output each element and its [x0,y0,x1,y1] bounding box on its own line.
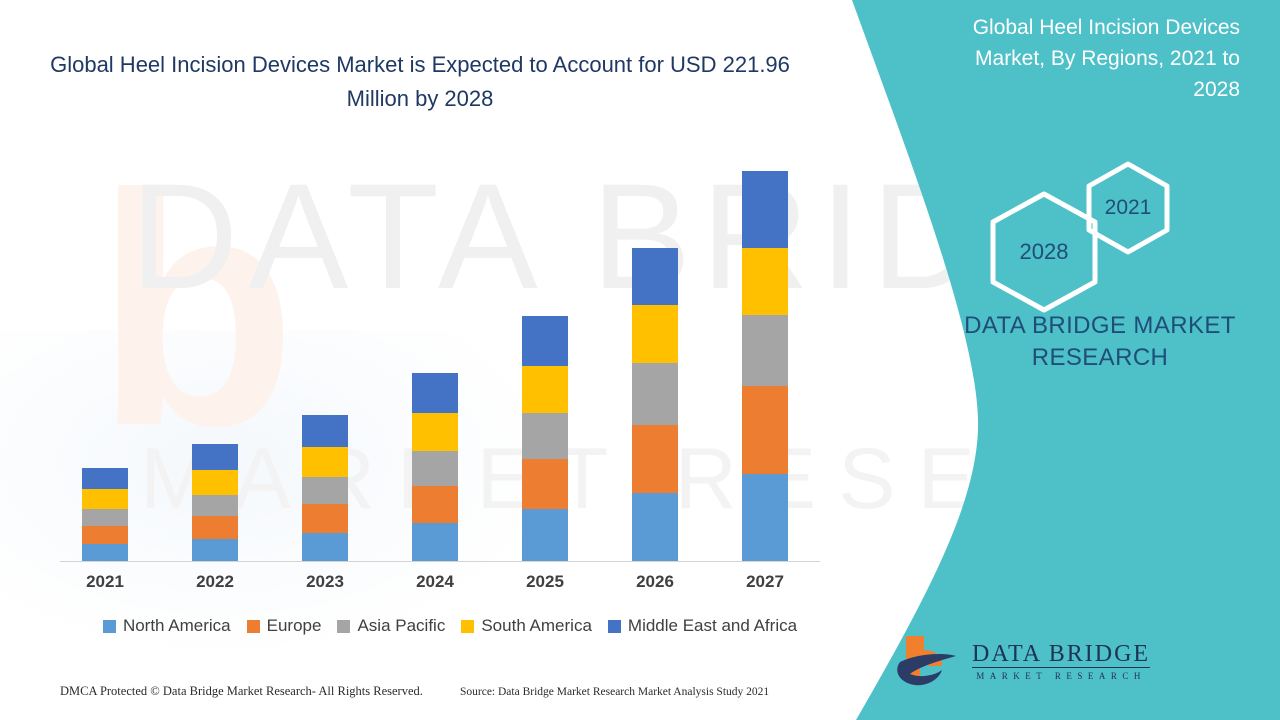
legend-label: South America [481,616,592,636]
data-bridge-logo-icon [890,630,962,694]
bar-segment [742,474,788,561]
bar-segment [302,447,348,477]
x-axis-line [60,561,820,562]
bar-segment [412,373,458,413]
legend-label: Middle East and Africa [628,616,797,636]
x-axis-tick-2027: 2027 [725,572,805,592]
bar-segment [742,315,788,385]
legend-item[interactable]: Asia Pacific [337,616,445,636]
bar-segment [302,533,348,561]
bar-group [412,373,458,561]
legend-item[interactable]: South America [461,616,592,636]
x-axis-labels: 2021202220232024202520262027 [60,572,820,602]
legend-swatch-icon [608,620,621,633]
bar-segment [82,526,128,544]
brand-name: DATA BRIDGE MARKET RESEARCH [940,310,1260,374]
bar-segment [412,523,458,561]
legend-swatch-icon [247,620,260,633]
bar-segment [632,363,678,425]
bar-segment [302,477,348,504]
brand-panel-title: Global Heel Incision Devices Market, By … [950,12,1240,105]
legend-swatch-icon [461,620,474,633]
chart-legend: North AmericaEuropeAsia PacificSouth Ame… [55,616,845,636]
bar-group [302,415,348,561]
logo-title: DATA BRIDGE [972,641,1150,667]
bar-segment [82,544,128,561]
bar-group [522,316,568,561]
hexagon-end-year: 2028 [988,190,1100,314]
logo-wordmark: DATA BRIDGE MARKET RESEARCH [972,641,1150,683]
legend-item[interactable]: Middle East and Africa [608,616,797,636]
bar-segment [192,495,238,516]
logo-subtitle: MARKET RESEARCH [972,667,1150,683]
bar-segment [412,486,458,523]
bar-segment [522,459,568,509]
footer-source-text: Source: Data Bridge Market Research Mark… [460,686,769,698]
bar-segment [82,489,128,509]
bar-segment [522,366,568,413]
bar-group [192,444,238,561]
legend-item[interactable]: North America [103,616,231,636]
bar-segment [632,493,678,561]
x-axis-tick-2022: 2022 [175,572,255,592]
footer-dmca-text: DMCA Protected © Data Bridge Market Rese… [60,684,423,699]
page-title: Global Heel Incision Devices Market is E… [50,48,790,116]
bar-group [632,248,678,561]
bar-segment [742,386,788,474]
bar-group [742,171,788,561]
x-axis-tick-2021: 2021 [65,572,145,592]
chart-panel: Global Heel Incision Devices Market is E… [0,0,860,720]
brand-panel: Global Heel Incision Devices Market, By … [830,0,1280,720]
x-axis-tick-2023: 2023 [285,572,365,592]
legend-item[interactable]: Europe [247,616,322,636]
bar-segment [82,468,128,489]
bar-segment [742,248,788,315]
bar-segment [192,444,238,470]
company-logo: DATA BRIDGE MARKET RESEARCH [890,630,1150,694]
bar-segment [522,509,568,561]
legend-swatch-icon [337,620,350,633]
bar-segment [522,316,568,365]
x-axis-tick-2026: 2026 [615,572,695,592]
stacked-bar-chart [60,150,820,562]
bar-segment [632,425,678,493]
bar-segment [302,415,348,447]
bar-segment [632,305,678,362]
legend-swatch-icon [103,620,116,633]
legend-label: North America [123,616,231,636]
bar-segment [742,171,788,248]
bar-segment [302,504,348,533]
bar-segment [412,451,458,486]
bar-segment [82,509,128,526]
hexagon-end-year-label: 2028 [988,190,1100,314]
bar-segment [632,248,678,305]
legend-label: Europe [267,616,322,636]
bar-segment [192,516,238,539]
bar-segment [522,413,568,459]
bar-segment [412,413,458,451]
bar-group [82,468,128,561]
x-axis-tick-2025: 2025 [505,572,585,592]
x-axis-tick-2024: 2024 [395,572,475,592]
bar-segment [192,470,238,495]
bar-segment [192,539,238,561]
legend-label: Asia Pacific [357,616,445,636]
